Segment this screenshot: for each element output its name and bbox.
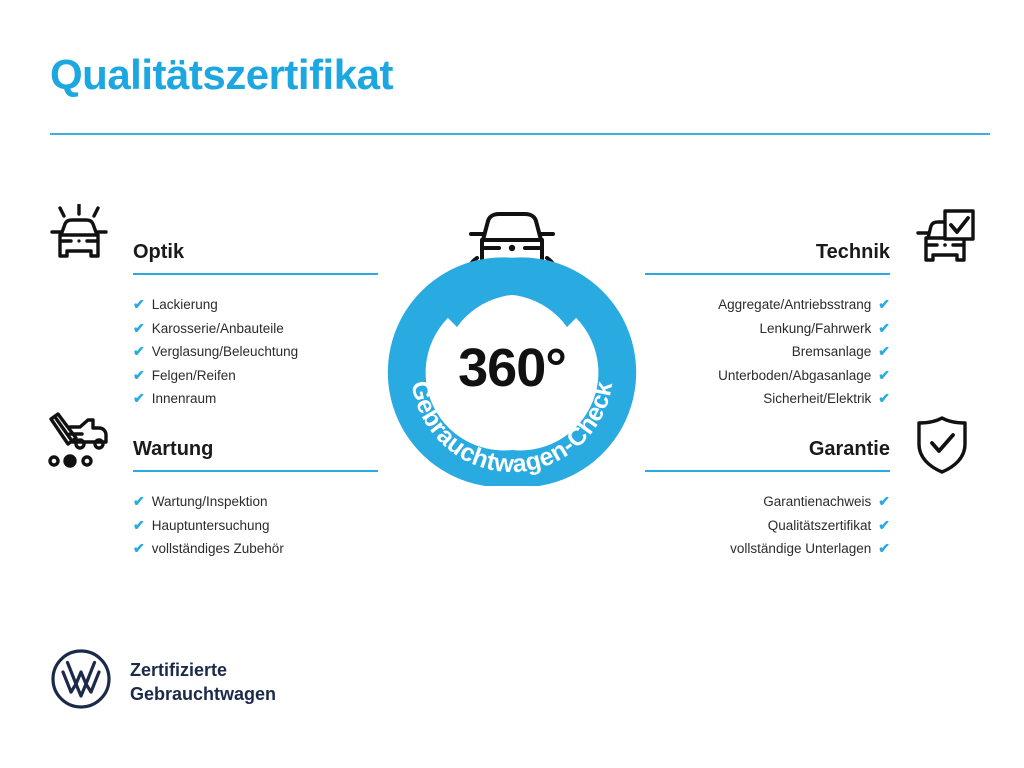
- check-icon: ✔: [133, 317, 145, 341]
- checklist-garantie: Garantienachweis✔ Qualitätszertifikat✔ v…: [645, 490, 890, 561]
- section-underline: [645, 273, 890, 275]
- list-item: Sicherheit/Elektrik✔: [645, 387, 890, 411]
- section-wartung: Wartung ✔Wartung/Inspektion ✔Hauptunters…: [133, 435, 378, 561]
- section-header: Garantie: [645, 435, 890, 477]
- section-optik: Optik ✔Lackierung ✔Karosserie/Anbauteile…: [133, 238, 378, 411]
- list-item: ✔Innenraum: [133, 387, 378, 411]
- checklist-optik: ✔Lackierung ✔Karosserie/Anbauteile ✔Verg…: [133, 293, 378, 411]
- check-icon: ✔: [133, 340, 145, 364]
- list-item-label: Garantienachweis: [763, 490, 871, 514]
- check-icon: ✔: [133, 490, 145, 514]
- list-item: Bremsanlage✔: [645, 340, 890, 364]
- brand-line-2: Gebrauchtwagen: [130, 682, 276, 706]
- car-front-lights-icon: [46, 204, 112, 271]
- list-item-label: Felgen/Reifen: [152, 364, 236, 388]
- checklist-wartung: ✔Wartung/Inspektion ✔Hauptuntersuchung ✔…: [133, 490, 378, 561]
- check-icon: ✔: [878, 537, 890, 561]
- section-underline: [645, 470, 890, 472]
- list-item: ✔Lackierung: [133, 293, 378, 317]
- list-item-label: Karosserie/Anbauteile: [152, 317, 284, 341]
- checklist-technik: Aggregate/Antriebsstrang✔ Lenkung/Fahrwe…: [645, 293, 890, 411]
- list-item: vollständige Unterlagen✔: [645, 537, 890, 561]
- list-item: ✔vollständiges Zubehör: [133, 537, 378, 561]
- list-item: Aggregate/Antriebsstrang✔: [645, 293, 890, 317]
- check-icon: ✔: [133, 364, 145, 388]
- shield-check-icon: [912, 414, 972, 481]
- section-header: Optik: [133, 238, 378, 280]
- badge-degrees-label: 360°: [371, 341, 653, 395]
- list-item-label: vollständiges Zubehör: [152, 537, 284, 561]
- car-service-pen-icon: [46, 412, 112, 479]
- brand-line-1: Zertifizierte: [130, 658, 276, 682]
- list-item: Lenkung/Fahrwerk✔: [645, 317, 890, 341]
- section-garantie: Garantie Garantienachweis✔ Qualitätszert…: [645, 435, 890, 561]
- list-item-label: Verglasung/Beleuchtung: [152, 340, 298, 364]
- list-item-label: vollständige Unterlagen: [730, 537, 871, 561]
- check-icon: ✔: [878, 514, 890, 538]
- car-checkbox-icon: [906, 208, 976, 275]
- check-icon: ✔: [878, 364, 890, 388]
- check-icon: ✔: [878, 387, 890, 411]
- section-header: Technik: [645, 238, 890, 280]
- list-item-label: Innenraum: [152, 387, 217, 411]
- list-item-label: Qualitätszertifikat: [768, 514, 872, 538]
- brand-text: Zertifizierte Gebrauchtwagen: [130, 658, 276, 706]
- check-icon: ✔: [133, 387, 145, 411]
- list-item: ✔Hauptuntersuchung: [133, 514, 378, 538]
- check-icon: ✔: [878, 293, 890, 317]
- check-icon: ✔: [133, 514, 145, 538]
- check-icon: ✔: [878, 317, 890, 341]
- section-technik: Technik Aggregate/Antriebsstrang✔ Lenkun…: [645, 238, 890, 411]
- section-title-optik: Optik: [133, 238, 378, 266]
- section-title-technik: Technik: [645, 238, 890, 266]
- list-item-label: Hauptuntersuchung: [152, 514, 270, 538]
- page-title: Qualitätszertifikat: [50, 52, 393, 98]
- list-item: Unterboden/Abgasanlage✔: [645, 364, 890, 388]
- list-item-label: Lackierung: [152, 293, 218, 317]
- list-item-label: Aggregate/Antriebsstrang: [718, 293, 871, 317]
- list-item: ✔Karosserie/Anbauteile: [133, 317, 378, 341]
- list-item-label: Wartung/Inspektion: [152, 490, 268, 514]
- section-header: Wartung: [133, 435, 378, 477]
- list-item-label: Unterboden/Abgasanlage: [718, 364, 871, 388]
- check-icon: ✔: [133, 537, 145, 561]
- list-item: ✔Felgen/Reifen: [133, 364, 378, 388]
- section-underline: [133, 273, 378, 275]
- check-icon: ✔: [133, 293, 145, 317]
- check-icon: ✔: [878, 490, 890, 514]
- list-item: Garantienachweis✔: [645, 490, 890, 514]
- header-divider: [50, 133, 990, 135]
- list-item: ✔Verglasung/Beleuchtung: [133, 340, 378, 364]
- list-item-label: Sicherheit/Elektrik: [763, 387, 871, 411]
- list-item-label: Lenkung/Fahrwerk: [759, 317, 871, 341]
- vw-logo-icon: [50, 648, 112, 715]
- brand-lockup: Zertifizierte Gebrauchtwagen: [50, 648, 276, 715]
- list-item: Qualitätszertifikat✔: [645, 514, 890, 538]
- section-title-wartung: Wartung: [133, 435, 378, 463]
- section-underline: [133, 470, 378, 472]
- section-title-garantie: Garantie: [645, 435, 890, 463]
- badge-360-gebrauchtwagen-check: Gebrauchtwagen-Check 360°: [371, 196, 653, 486]
- check-icon: ✔: [878, 340, 890, 364]
- list-item-label: Bremsanlage: [792, 340, 872, 364]
- list-item: ✔Wartung/Inspektion: [133, 490, 378, 514]
